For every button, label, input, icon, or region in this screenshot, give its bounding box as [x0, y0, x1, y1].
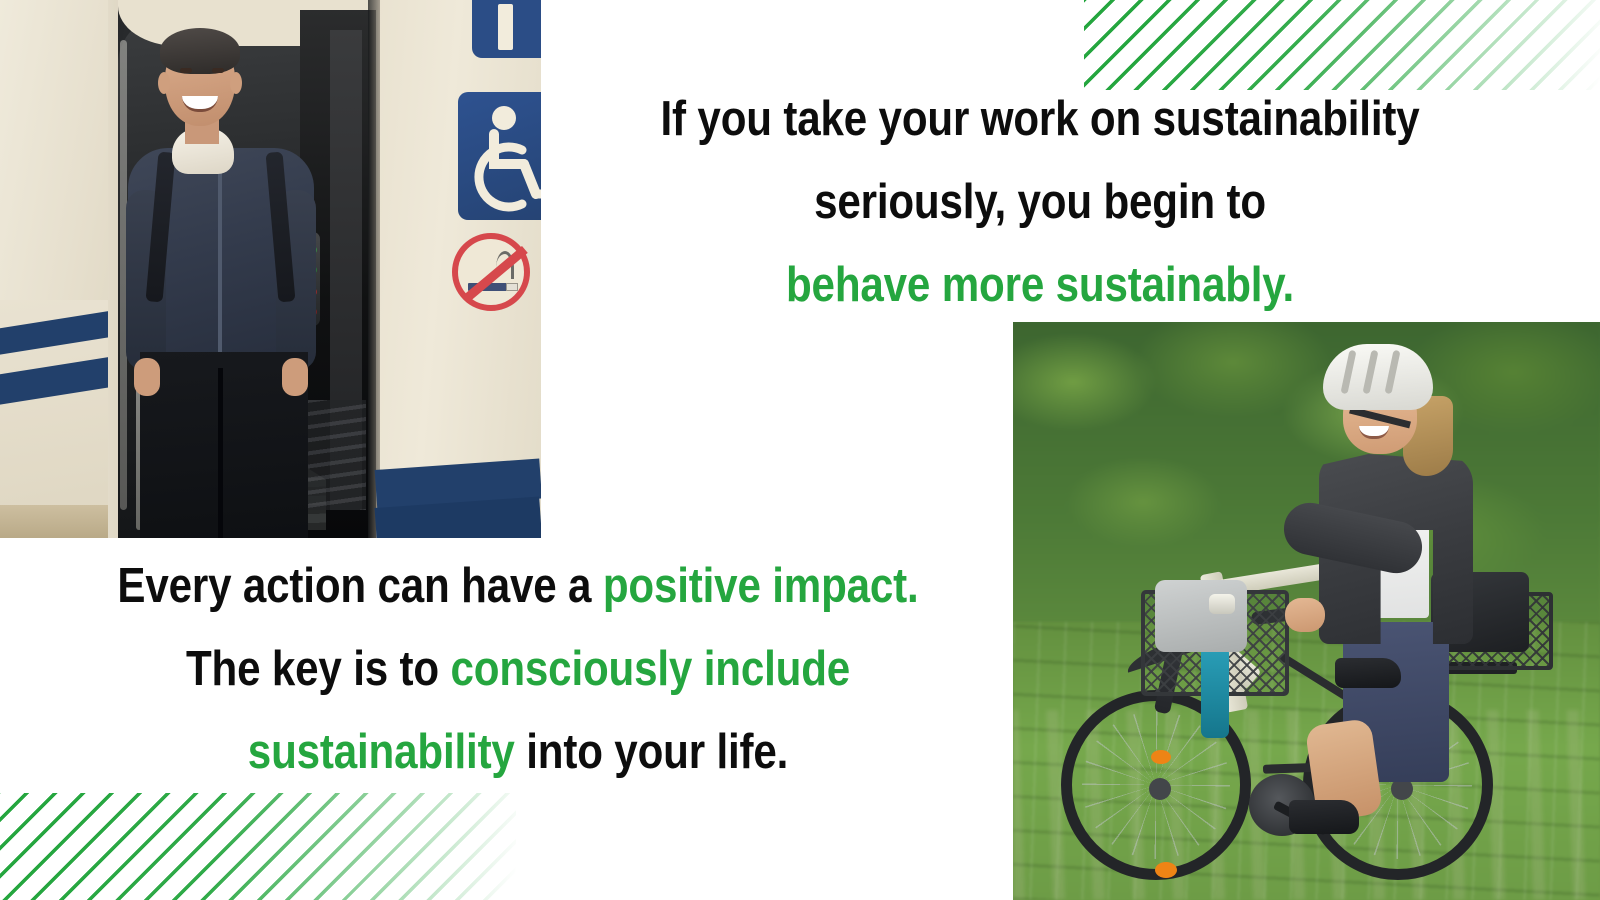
front-wheel-reflector-lower — [1155, 862, 1177, 878]
person-eye-left — [180, 68, 192, 73]
rider-shoe-rear — [1335, 658, 1401, 688]
rider-hand — [1285, 598, 1325, 632]
quote-top-highlight: behave more sustainably. — [786, 258, 1294, 312]
quote-top-line-1: If you take your work on sustainability — [627, 78, 1453, 161]
decor-stripes-top-right — [1084, 0, 1600, 90]
prohibition-slash-icon — [462, 246, 528, 303]
platform-ground — [0, 505, 120, 538]
quote-bottom-line-1-plain: Every action can have a — [117, 559, 602, 613]
bicycle-helmet — [1323, 344, 1433, 410]
basket-bag — [1155, 580, 1247, 652]
helmet-vent-1 — [1341, 350, 1357, 394]
quote-top-line-2: seriously, you begin to — [627, 161, 1453, 244]
person-hair — [160, 28, 240, 74]
quote-bottom-line-2: The key is to consciously include — [97, 628, 940, 711]
person-leg-split — [218, 368, 223, 538]
slide-canvas: If you take your work on sustainability … — [0, 0, 1600, 900]
doorway-right-edge — [368, 0, 380, 538]
no-smoking-sign — [452, 233, 530, 311]
front-hub — [1149, 778, 1171, 800]
quote-bottom-line-3-plain: into your life. — [515, 725, 789, 779]
quote-bottom-line-1-highlight: positive impact. — [603, 559, 919, 613]
quote-bottom-block: Every action can have a positive impact.… — [28, 545, 1008, 794]
information-sign — [472, 0, 541, 58]
diagonal-stripes-icon — [0, 793, 516, 900]
quote-bottom-line-2-highlight: consciously include — [451, 642, 851, 696]
person-hand-right — [282, 358, 308, 396]
rider-shoe-front — [1289, 800, 1359, 834]
diagonal-stripes-icon — [1084, 0, 1600, 90]
helmet-vent-2 — [1363, 350, 1379, 394]
wheelchair-icon — [458, 92, 541, 220]
quote-top-line-3: behave more sustainably. — [627, 244, 1453, 327]
helmet-vent-3 — [1385, 350, 1401, 394]
decor-stripes-bottom-left — [0, 793, 516, 900]
quote-bottom-line-1: Every action can have a positive impact. — [97, 545, 940, 628]
accessibility-wheelchair-sign — [458, 92, 541, 220]
jacket-zipper — [218, 160, 222, 360]
photo-woman-on-ebike — [1013, 322, 1600, 900]
information-sign-glyph — [498, 4, 513, 50]
interior-ridges — [300, 400, 366, 510]
bike-headlight — [1209, 594, 1235, 614]
quote-bottom-line-3: sustainability into your life. — [97, 711, 940, 794]
person-hand-left — [134, 358, 160, 396]
person-eye-right — [212, 68, 224, 73]
cigarette-tip-icon — [506, 283, 518, 291]
person-ear-left — [158, 72, 170, 94]
quote-top-block: If you take your work on sustainability … — [560, 78, 1520, 327]
quote-bottom-line-3-highlight: sustainability — [248, 725, 515, 779]
photo-man-in-train-doorway — [0, 0, 541, 538]
quote-bottom-line-2-plain: The key is to — [186, 642, 451, 696]
water-bottle — [1201, 646, 1229, 738]
front-wheel-reflector — [1151, 750, 1171, 764]
person-ear-right — [230, 72, 242, 94]
